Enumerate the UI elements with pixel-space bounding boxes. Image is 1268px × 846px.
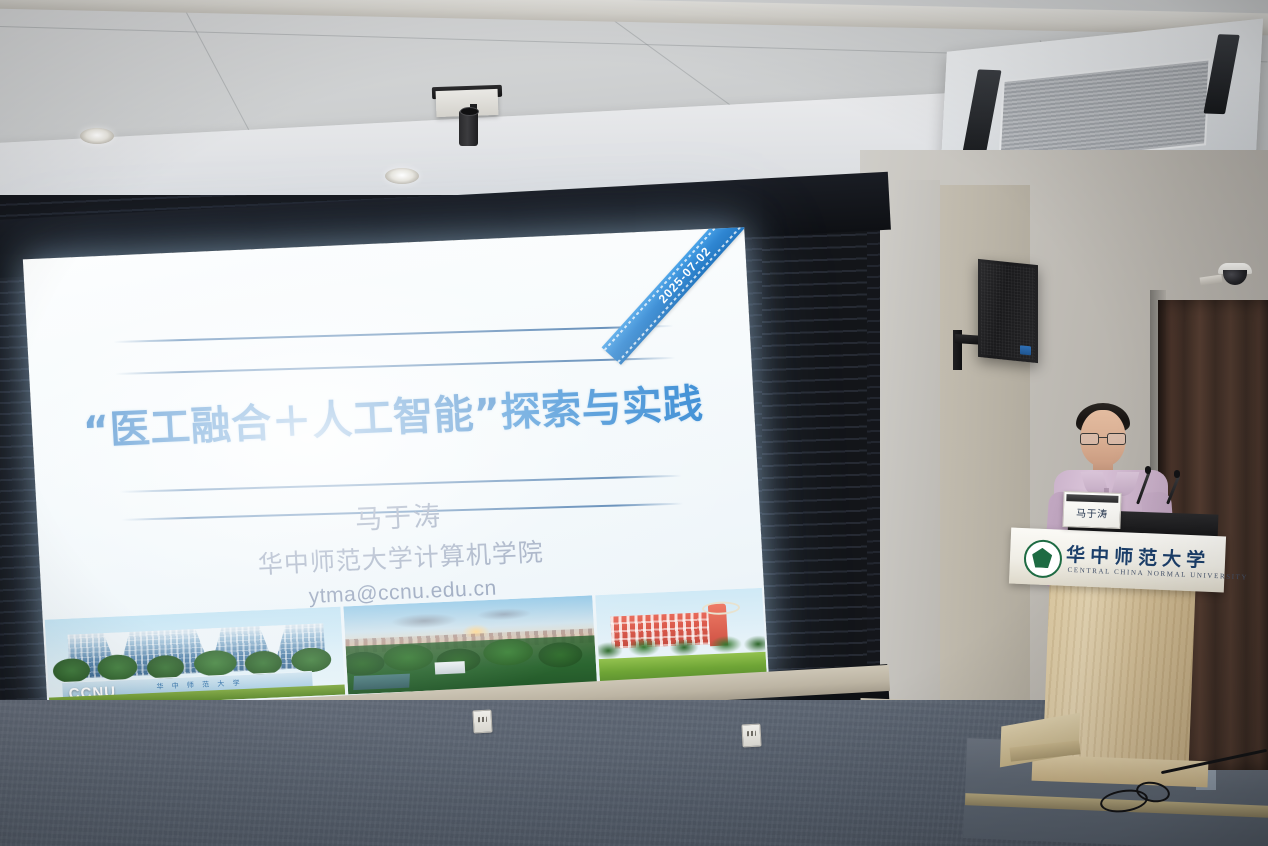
ribbon-date: 2025-07-02: [656, 244, 714, 306]
projection-screen: “医工融合＋人工智能”探索与实践 马于涛 华中师范大学计算机学院 ytma@cc…: [23, 227, 769, 713]
title-rule-top-1: [114, 325, 674, 343]
aerial-campus-sunset-photo: [344, 595, 597, 694]
acoustic-slat-wall-right: [762, 215, 867, 720]
power-outlet-icon[interactable]: [741, 724, 761, 748]
power-outlet-icon[interactable]: [472, 710, 492, 734]
microphone-head: [1174, 470, 1180, 478]
downlight-icon: [385, 168, 419, 184]
corner-ribbon: 2025-07-02: [586, 227, 755, 392]
microphone-head: [1145, 466, 1151, 474]
red-brick-campus-lawn-photo: [595, 588, 767, 683]
nameplate-text: 马于涛: [1064, 504, 1120, 521]
spotlight-icon: [459, 110, 478, 146]
podium-base: [1032, 755, 1209, 788]
nameplate: 马于涛: [1062, 491, 1121, 529]
university-crest-icon: [1023, 539, 1063, 579]
dome-camera-icon: [1218, 263, 1252, 287]
downlight-icon: [80, 128, 114, 144]
slide-title-main: “医工融合＋人工智能”: [82, 390, 502, 455]
loudspeaker-icon: [978, 259, 1038, 363]
glasses-icon: [1080, 433, 1126, 443]
lecture-hall-scene: “医工融合＋人工智能”探索与实践 马于涛 华中师范大学计算机学院 ytma@cc…: [0, 0, 1268, 846]
campus-building-photo: CCNU 华 中 师 范 大 学: [45, 607, 346, 708]
title-rule-top-2: [115, 357, 675, 375]
podium-front-panel: 华中师范大学 CENTRAL CHINA NORMAL UNIVERSITY: [1009, 528, 1226, 593]
podium: 华中师范大学 CENTRAL CHINA NORMAL UNIVERSITY: [1010, 520, 1225, 820]
